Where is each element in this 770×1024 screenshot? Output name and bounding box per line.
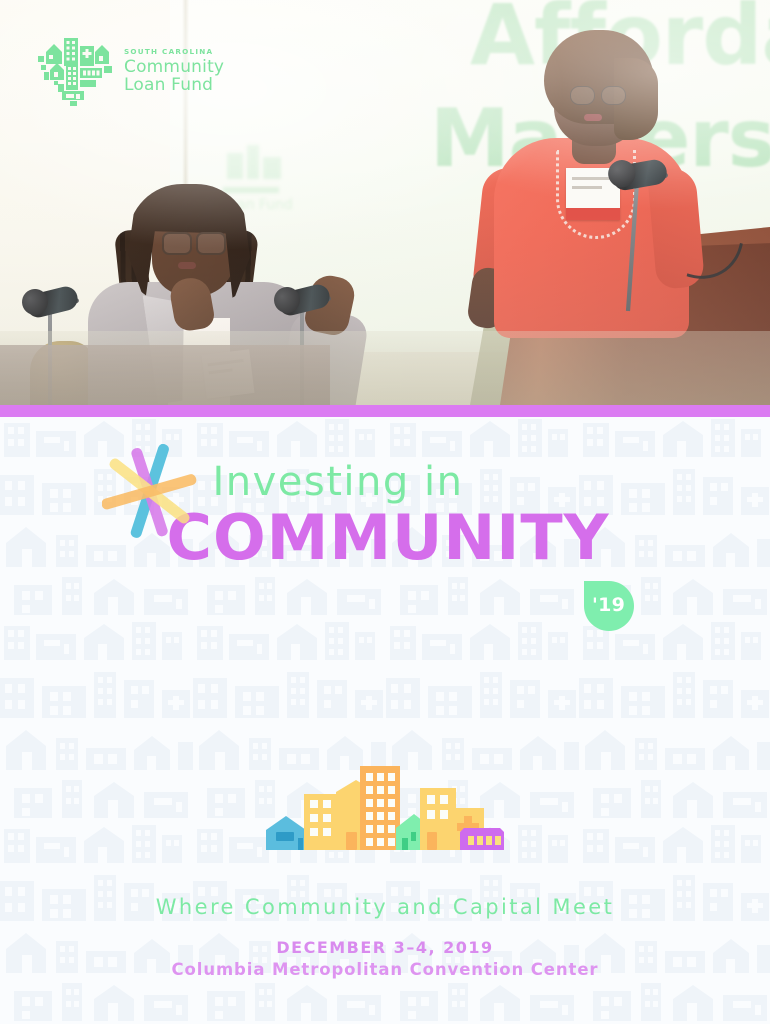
cityscape-illustration (0, 762, 770, 857)
year-badge-label: '19 (592, 594, 625, 616)
starburst-icon (102, 444, 198, 540)
brand-wordmark: SOUTH CAROLINA Community Loan Fund (124, 46, 224, 93)
event-tagline: Where Community and Capital Meet (0, 895, 770, 919)
brand-name: Community Loan Fund (124, 59, 224, 94)
event-logo-lockup: Investing in COMMUNITY '19 (0, 462, 770, 569)
speaker-standing-glasses-icon (570, 86, 628, 103)
year-badge: '19 (584, 581, 634, 631)
event-date: DECEMBER 3–4, 2019 (0, 938, 770, 957)
cityscape-icon (260, 762, 510, 852)
floor (0, 331, 770, 405)
brand-eyebrow: SOUTH CAROLINA (124, 48, 224, 55)
projected-logo-icon: Loan Fund (215, 135, 385, 215)
speaker-standing-lips (584, 114, 602, 121)
brand-logo: SOUTH CAROLINA Community Loan Fund (38, 34, 224, 106)
poster-body: Investing in COMMUNITY '19 (0, 417, 770, 1024)
logo-script-line: Investing in (212, 462, 609, 502)
conference-poster: Affordable Matters Loan Fund (0, 0, 770, 1024)
brand-name-line1: Community (124, 59, 224, 76)
purple-divider (0, 405, 770, 417)
brand-name-line2: Loan Fund (124, 77, 224, 94)
panelist-lips (178, 262, 196, 269)
panelist-glasses-icon (162, 232, 224, 251)
header-photo: Affordable Matters Loan Fund (0, 0, 770, 405)
logo-display-line: COMMUNITY (166, 506, 609, 569)
event-venue: Columbia Metropolitan Convention Center (0, 960, 770, 979)
south-carolina-buildings-icon (38, 34, 114, 106)
